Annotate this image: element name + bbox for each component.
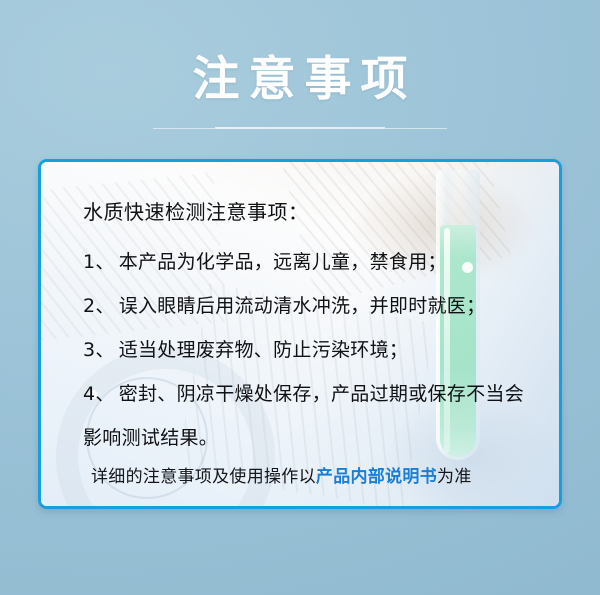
list-item-number: 3、 [83, 339, 115, 361]
list-item-text: 误入眼睛后用流动清水冲洗，并即时就医； [119, 295, 486, 317]
list-item-text: 适当处理废弃物、防止污染环境； [119, 339, 409, 361]
title-divider [215, 127, 385, 129]
page-root: 注意事项 水质快速检测注意事项： 1、本产品为化学品，远离儿童，禁食用； [0, 0, 600, 595]
list-item-number: 4、 [83, 383, 115, 405]
list-item-text: 密封、阴凉干燥处保存，产品过期或保存不当会影响测试结果。 [83, 383, 524, 449]
notice-list: 1、本产品为化学品，远离儿童，禁食用； 2、误入眼睛后用流动清水冲洗，并即时就医… [83, 240, 531, 460]
list-item: 2、误入眼睛后用流动清水冲洗，并即时就医； [83, 284, 531, 328]
list-item: 1、本产品为化学品，远离儿童，禁食用； [83, 240, 531, 284]
list-item-number: 2、 [83, 295, 115, 317]
footer-note: 详细的注意事项及使用操作以产品内部说明书为准 [91, 462, 472, 487]
header: 注意事项 [0, 0, 600, 160]
list-item-number: 1、 [83, 251, 115, 273]
list-item: 4、密封、阴凉干燥处保存，产品过期或保存不当会影响测试结果。 [83, 372, 531, 460]
panel-content: 水质快速检测注意事项： 1、本产品为化学品，远离儿童，禁食用； 2、误入眼睛后用… [41, 162, 559, 506]
section-heading: 水质快速检测注意事项： [83, 196, 309, 225]
list-item: 3、适当处理废弃物、防止污染环境； [83, 328, 531, 372]
footer-highlight: 产品内部说明书 [316, 467, 437, 487]
footer-prefix: 详细的注意事项及使用操作以 [91, 467, 316, 487]
footer-suffix: 为准 [437, 467, 472, 487]
notice-panel: 水质快速检测注意事项： 1、本产品为化学品，远离儿童，禁食用； 2、误入眼睛后用… [38, 159, 562, 509]
list-item-text: 本产品为化学品，远离儿童，禁食用； [119, 251, 447, 273]
page-title: 注意事项 [0, 50, 600, 108]
